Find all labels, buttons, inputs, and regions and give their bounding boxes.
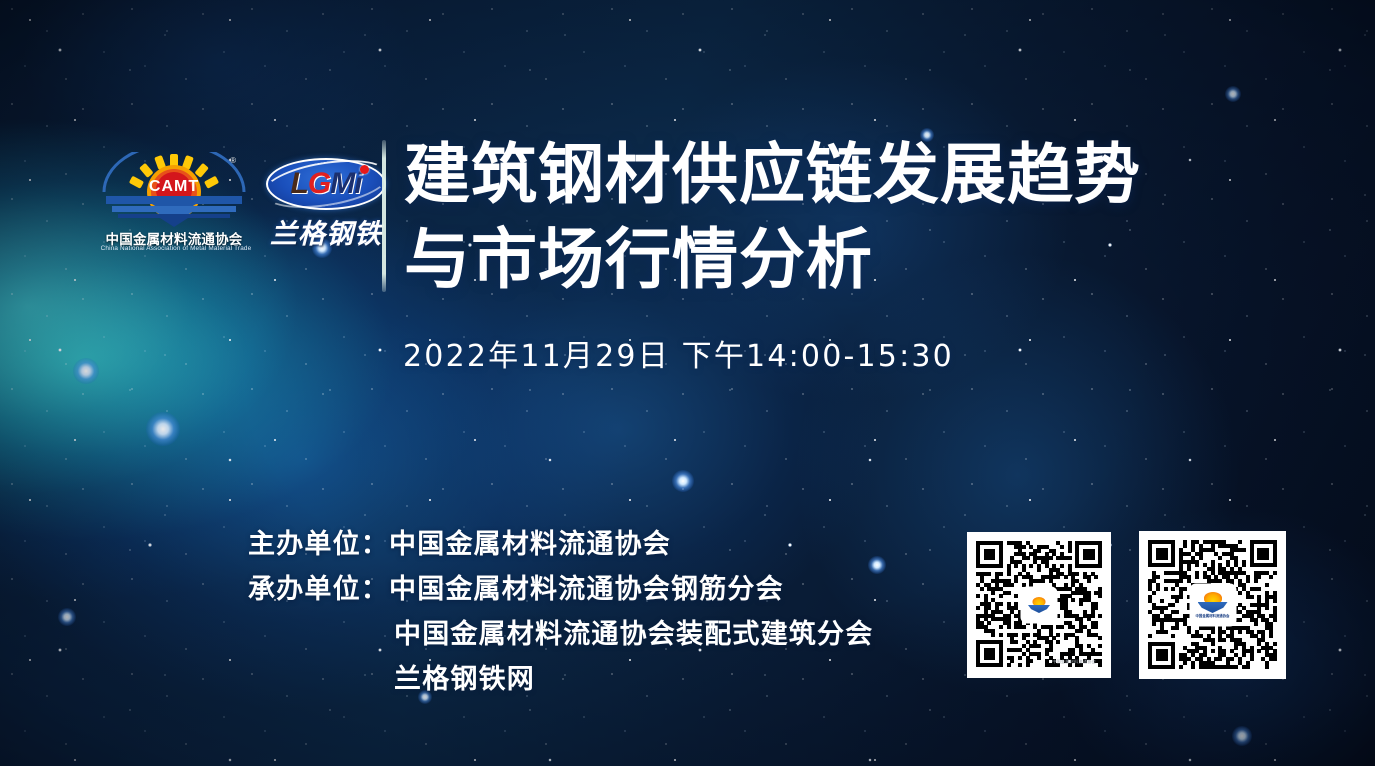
camt-mini-emblem-icon	[1198, 592, 1228, 613]
camt-logo: CAMT ® 中国金属材料流通协会 China National Associa…	[100, 152, 248, 262]
camt-mini-emblem-icon	[1028, 597, 1050, 613]
lgmi-letter-m: M	[330, 167, 354, 200]
camt-name-en: China National Association of Metal Mate…	[100, 245, 252, 252]
camt-emblem-icon: CAMT ®	[100, 152, 248, 228]
organizer-line-cohost: 承办单位：中国金属材料流通协会钢筋分会	[248, 567, 948, 612]
organizer-line-cohost-3: 兰格钢铁网	[248, 657, 948, 702]
qr-code-left[interactable]: 中国金属材料流通协会	[967, 532, 1111, 678]
mini-wing-icon	[1198, 602, 1228, 613]
event-datetime: 2022年11月29日 下午14:00-15:30	[403, 331, 954, 375]
organizer-line-host: 主办单位：中国金属材料流通协会	[248, 522, 948, 567]
qr-code-right[interactable]: 中国金属材料流通协会	[1139, 531, 1286, 679]
title-line-2: 与市场行情分析	[404, 217, 1224, 302]
qr-right-logo-caption: 中国金属材料流通协会	[1196, 614, 1230, 618]
organizer-block: 主办单位：中国金属材料流通协会 承办单位：中国金属材料流通协会钢筋分会 中国金属…	[248, 522, 948, 702]
poster-title: 建筑钢材供应链发展趋势 与市场行情分析	[404, 132, 1224, 302]
qr-code-left-canvas: 中国金属材料流通协会	[976, 541, 1102, 669]
lgmi-dot-icon	[360, 165, 369, 174]
lgmi-letter-l: L	[290, 167, 307, 200]
organizer-line-cohost-2: 中国金属材料流通协会装配式建筑分会	[248, 612, 948, 657]
mini-sun-icon	[1033, 597, 1046, 606]
camt-wordmark: CAMT	[100, 178, 248, 196]
qr-right-center-logo: 中国金属材料流通协会	[1191, 585, 1235, 625]
title-divider	[382, 140, 386, 292]
lgmi-wordmark: LGMi	[262, 166, 390, 202]
lgmi-logo: LGMi 兰格钢铁	[262, 156, 390, 260]
qr-code-right-canvas: 中国金属材料流通协会	[1148, 540, 1277, 670]
title-line-1: 建筑钢材供应链发展趋势	[404, 132, 1224, 217]
registered-trademark-icon: ®	[230, 156, 236, 165]
lgmi-name-cn: 兰格钢铁	[262, 212, 390, 251]
logo-row: CAMT ® 中国金属材料流通协会 China National Associa…	[100, 152, 390, 262]
qr-left-watermark: 中国金属材料流通协会	[1052, 659, 1096, 665]
poster-canvas: CAMT ® 中国金属材料流通协会 China National Associa…	[0, 0, 1375, 766]
lgmi-letter-g: G	[308, 167, 330, 200]
mini-wing-icon	[1028, 605, 1050, 613]
qr-left-center-logo	[1022, 588, 1056, 622]
